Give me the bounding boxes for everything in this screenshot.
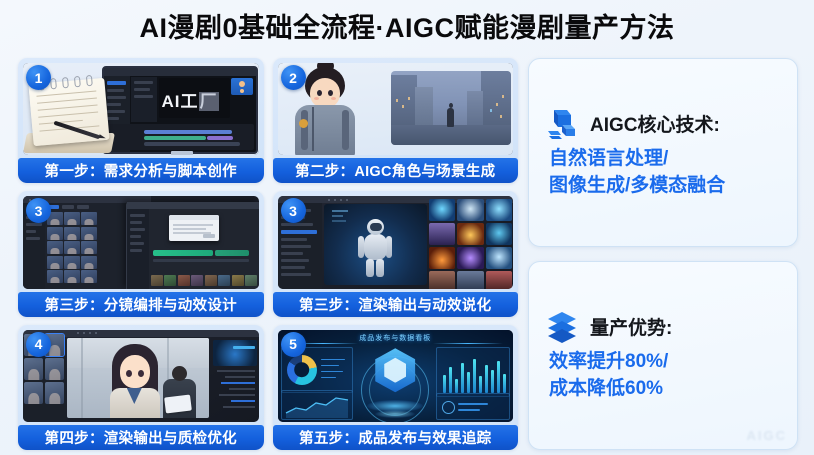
scene-analytics-dashboard: 成品发布与数据看板 <box>278 330 514 422</box>
step-caption-5: 第四步：渲染输出与质检优化 <box>18 425 264 450</box>
step-badge-6: 5 <box>281 332 306 357</box>
avatar-thumb <box>231 78 253 95</box>
step-thumbnail-3: 3 <box>23 196 259 288</box>
preview-canvas <box>67 338 209 418</box>
step-thumbnail-5: 4 <box>23 330 259 422</box>
step-caption-4: 第三步：渲染输出与动效说化 <box>273 292 519 317</box>
character-preview <box>104 344 166 418</box>
cube-blocks-icon <box>545 106 579 140</box>
step-caption-1: 第一步：需求分析与脚本创作 <box>18 158 264 183</box>
monitor-frame: AI工厂 <box>102 66 258 154</box>
step-thumbnail-6: 5 成品发布与数据看板 <box>278 330 514 422</box>
step-badge-5: 4 <box>26 332 51 357</box>
step-thumbnail-1: 1 <box>23 63 259 155</box>
step-caption-2: 第二步：AIGC角色与场景生成 <box>273 158 519 183</box>
step-caption-3: 第三步：分镜编排与动效设计 <box>18 292 264 317</box>
step-card-1[interactable]: 1 <box>18 58 264 183</box>
info-line: 自然语言处理/ <box>549 146 781 172</box>
scene-storyboard-editor <box>23 196 259 288</box>
step-thumbnail-2: 2 <box>278 63 514 155</box>
rainy-street-image <box>391 71 511 145</box>
page-title: AI漫剧0基础全流程·AIGC赋能漫剧量产方法 <box>0 6 814 45</box>
scene-character-and-rainy-street <box>278 63 514 155</box>
poster-root: AI漫剧0基础全流程·AIGC赋能漫剧量产方法 1 <box>0 0 814 455</box>
step-card-3[interactable]: 3 <box>18 191 264 316</box>
step-thumbnail-4: 3 <box>278 196 514 288</box>
step-badge-2: 2 <box>281 65 306 90</box>
step-card-2[interactable]: 2 <box>273 58 519 183</box>
scene-notebook-and-editor: AI工厂 <box>23 63 259 155</box>
info-card-mass-production[interactable]: 量产优势: 效率提升80%/ 成本降低60% AIGC <box>528 261 798 450</box>
step-caption-6: 第五步：成品发布与效果追踪 <box>273 425 519 450</box>
trend-line-icon <box>282 391 352 419</box>
info-card-lines: 自然语言处理/ 图像生成/多模态融合 <box>545 146 781 198</box>
modal-dialog <box>169 215 219 241</box>
list-panel <box>436 393 510 420</box>
step-card-4[interactable]: 3 <box>273 191 519 316</box>
step-card-5[interactable]: 4 <box>18 325 264 450</box>
watermark: AIGC <box>747 428 788 443</box>
scene-preview-quality-check <box>23 330 259 422</box>
robot-render-preview <box>324 204 428 284</box>
layers-stack-icon <box>545 309 579 343</box>
scene-render-gallery <box>278 196 514 288</box>
steps-grid: 1 <box>18 58 518 450</box>
info-line: 图像生成/多模态融合 <box>549 173 781 199</box>
info-card-core-tech[interactable]: AIGC核心技术: 自然语言处理/ 图像生成/多模态融合 <box>528 58 798 247</box>
render-thumbnail-gallery[interactable] <box>429 199 512 288</box>
info-card-title: 量产优势: <box>590 313 672 340</box>
info-card-title: AIGC核心技术: <box>590 110 720 137</box>
trend-chart-panel <box>281 390 353 420</box>
info-line: 效率提升80%/ <box>549 349 781 375</box>
dashboard-title: 成品发布与数据看板 <box>359 333 431 343</box>
step-badge-4: 3 <box>281 198 306 223</box>
step-card-6[interactable]: 5 成品发布与数据看板 <box>273 325 519 450</box>
bar-chart-panel <box>436 347 510 397</box>
info-line: 成本降低60% <box>549 376 781 402</box>
info-panels: AIGC核心技术: 自然语言处理/ 图像生成/多模态融合 量产优势: 效 <box>528 58 798 450</box>
filmstrip <box>151 275 258 286</box>
step-badge-1: 1 <box>26 65 51 90</box>
info-card-lines: 效率提升80%/ 成本降低60% <box>545 349 781 401</box>
screen-text-1: AI工厂 <box>162 87 219 112</box>
